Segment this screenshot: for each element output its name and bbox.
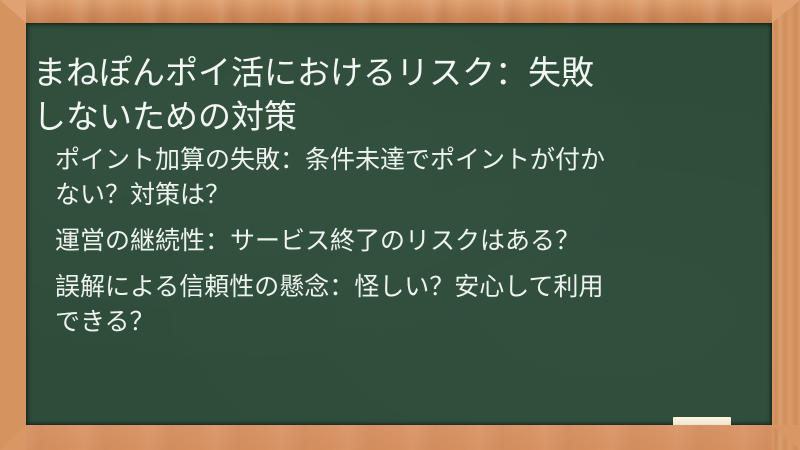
bullet-item-1: ポイント加算の失敗：条件未達でポイントが付か ない？対策は？ — [55, 143, 750, 213]
chalkboard-slide: まねぽんポイ活におけるリスク：失敗 しないための対策 ポイント加算の失敗：条件未… — [0, 0, 800, 450]
bullet-item-3: 誤解による信頼性の懸念：怪しい？安心して利用 できる？ — [55, 270, 750, 340]
chalkboard-surface: まねぽんポイ活におけるリスク：失敗 しないための対策 ポイント加算の失敗：条件未… — [26, 23, 772, 425]
slide-title: まねぽんポイ活におけるリスク：失敗 しないための対策 — [33, 51, 753, 139]
frame-rail-bottom — [0, 425, 800, 450]
chalk-stick — [673, 417, 731, 425]
frame-rail-top — [0, 0, 800, 23]
frame-rail-left — [0, 0, 26, 450]
frame-rail-right — [772, 0, 800, 450]
bullet-item-2: 運営の継続性：サービス終了のリスクはある？ — [55, 224, 750, 259]
bullet-list: ポイント加算の失敗：条件未達でポイントが付か ない？対策は？ 運営の継続性：サー… — [55, 143, 750, 340]
frame-mitre-bottom-right — [772, 425, 800, 450]
frame-mitre-top-left — [0, 0, 26, 23]
frame-mitre-top-right — [772, 0, 800, 23]
frame-mitre-bottom-left — [0, 425, 26, 450]
